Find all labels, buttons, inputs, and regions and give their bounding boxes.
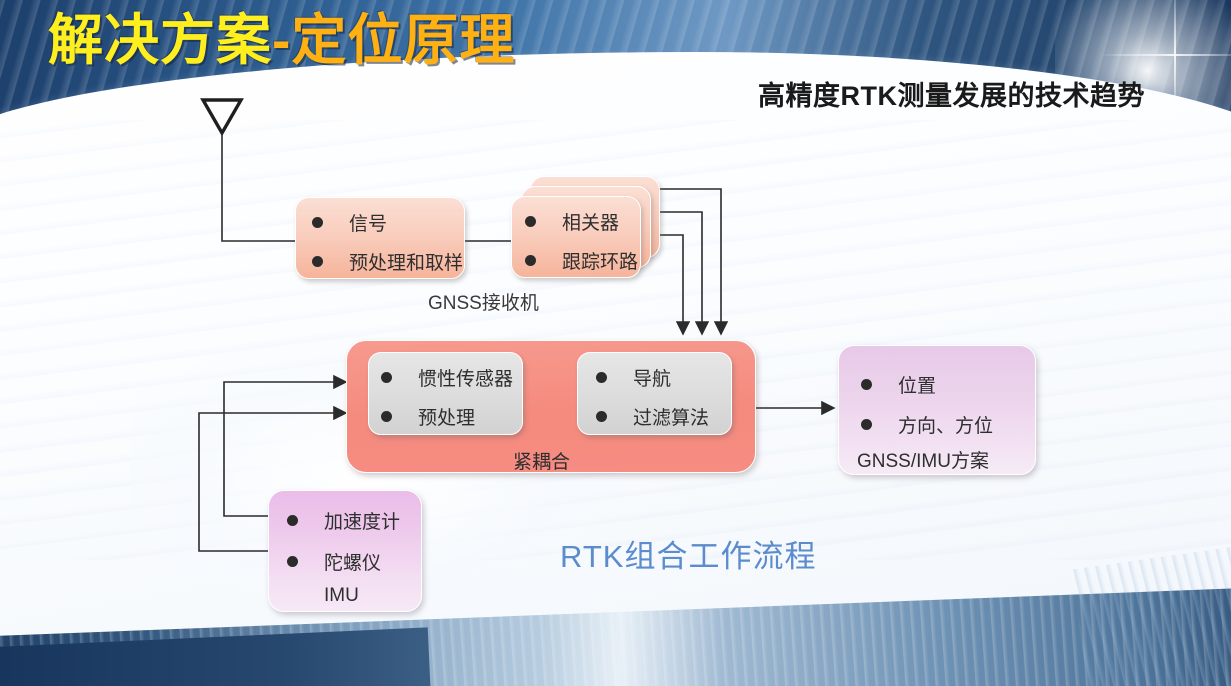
inertial-item-row: 预处理 (381, 403, 522, 430)
navigation-item-label: 导航 (633, 364, 671, 391)
workflow-caption: RTK组合工作流程 (560, 531, 816, 576)
signal-item-label: 信号 (349, 209, 387, 236)
output-box-label: GNSS/IMU方案 (857, 446, 1035, 473)
gnss-receiver-label: GNSS接收机 (428, 288, 539, 315)
bullet-icon (312, 217, 323, 228)
bullet-icon (287, 515, 298, 526)
page-title: 解决方案-定位原理 (48, 10, 515, 72)
imu-item-row: 加速度计 (287, 507, 421, 534)
inertial-preprocessing-box[interactable]: 惯性传感器 预处理 (368, 352, 523, 435)
bullet-icon (287, 556, 298, 567)
inertial-item-label: 预处理 (418, 403, 475, 430)
signal-item-row: 预处理和取样 (312, 248, 464, 275)
signal-item-label: 预处理和取样 (349, 248, 463, 275)
output-result-box[interactable]: 位置 方向、方位 GNSS/IMU方案 (838, 345, 1036, 475)
correlator-item-label: 相关器 (562, 208, 619, 235)
signal-preprocessing-box[interactable]: 信号 预处理和取样 (295, 197, 465, 279)
bullet-icon (596, 372, 607, 383)
correlator-item-row: 跟踪环路 (525, 247, 640, 274)
imu-item-label: 加速度计 (324, 507, 400, 534)
slide-canvas: 解决方案-定位原理 高精度RTK测量发展的技术趋势 (0, 0, 1231, 686)
navigation-item-row: 过滤算法 (596, 403, 731, 430)
output-item-label: 方向、方位 (898, 411, 993, 438)
tight-coupling-label: 紧耦合 (513, 447, 570, 474)
correlator-tracking-box[interactable]: 相关器 跟踪环路 (511, 196, 641, 278)
page-title-sub: -定位原理 (272, 9, 515, 71)
bullet-icon (312, 256, 323, 267)
bullet-icon (381, 372, 392, 383)
bullet-icon (381, 411, 392, 422)
bullet-icon (861, 419, 872, 430)
bullet-icon (525, 216, 536, 227)
navigation-item-row: 导航 (596, 364, 731, 391)
bullet-icon (861, 379, 872, 390)
imu-box[interactable]: 加速度计 陀螺仪 IMU (268, 490, 422, 612)
imu-item-label: 陀螺仪 (324, 548, 381, 575)
inertial-item-row: 惯性传感器 (381, 364, 522, 391)
output-item-label: 位置 (898, 371, 936, 398)
inertial-item-label: 惯性传感器 (418, 364, 513, 391)
imu-item-row: 陀螺仪 (287, 548, 421, 575)
output-item-row: 方向、方位 (861, 411, 1035, 438)
bullet-icon (525, 255, 536, 266)
output-item-row: 位置 (861, 371, 1035, 398)
signal-item-row: 信号 (312, 209, 464, 236)
correlator-item-row: 相关器 (525, 208, 640, 235)
navigation-item-label: 过滤算法 (633, 403, 709, 430)
bullet-icon (596, 411, 607, 422)
slide-subtitle: 高精度RTK测量发展的技术趋势 (758, 74, 1145, 113)
page-title-main: 解决方案 (48, 9, 272, 71)
imu-box-label: IMU (324, 585, 421, 607)
correlator-item-label: 跟踪环路 (562, 247, 638, 274)
navigation-filter-box[interactable]: 导航 过滤算法 (577, 352, 732, 435)
